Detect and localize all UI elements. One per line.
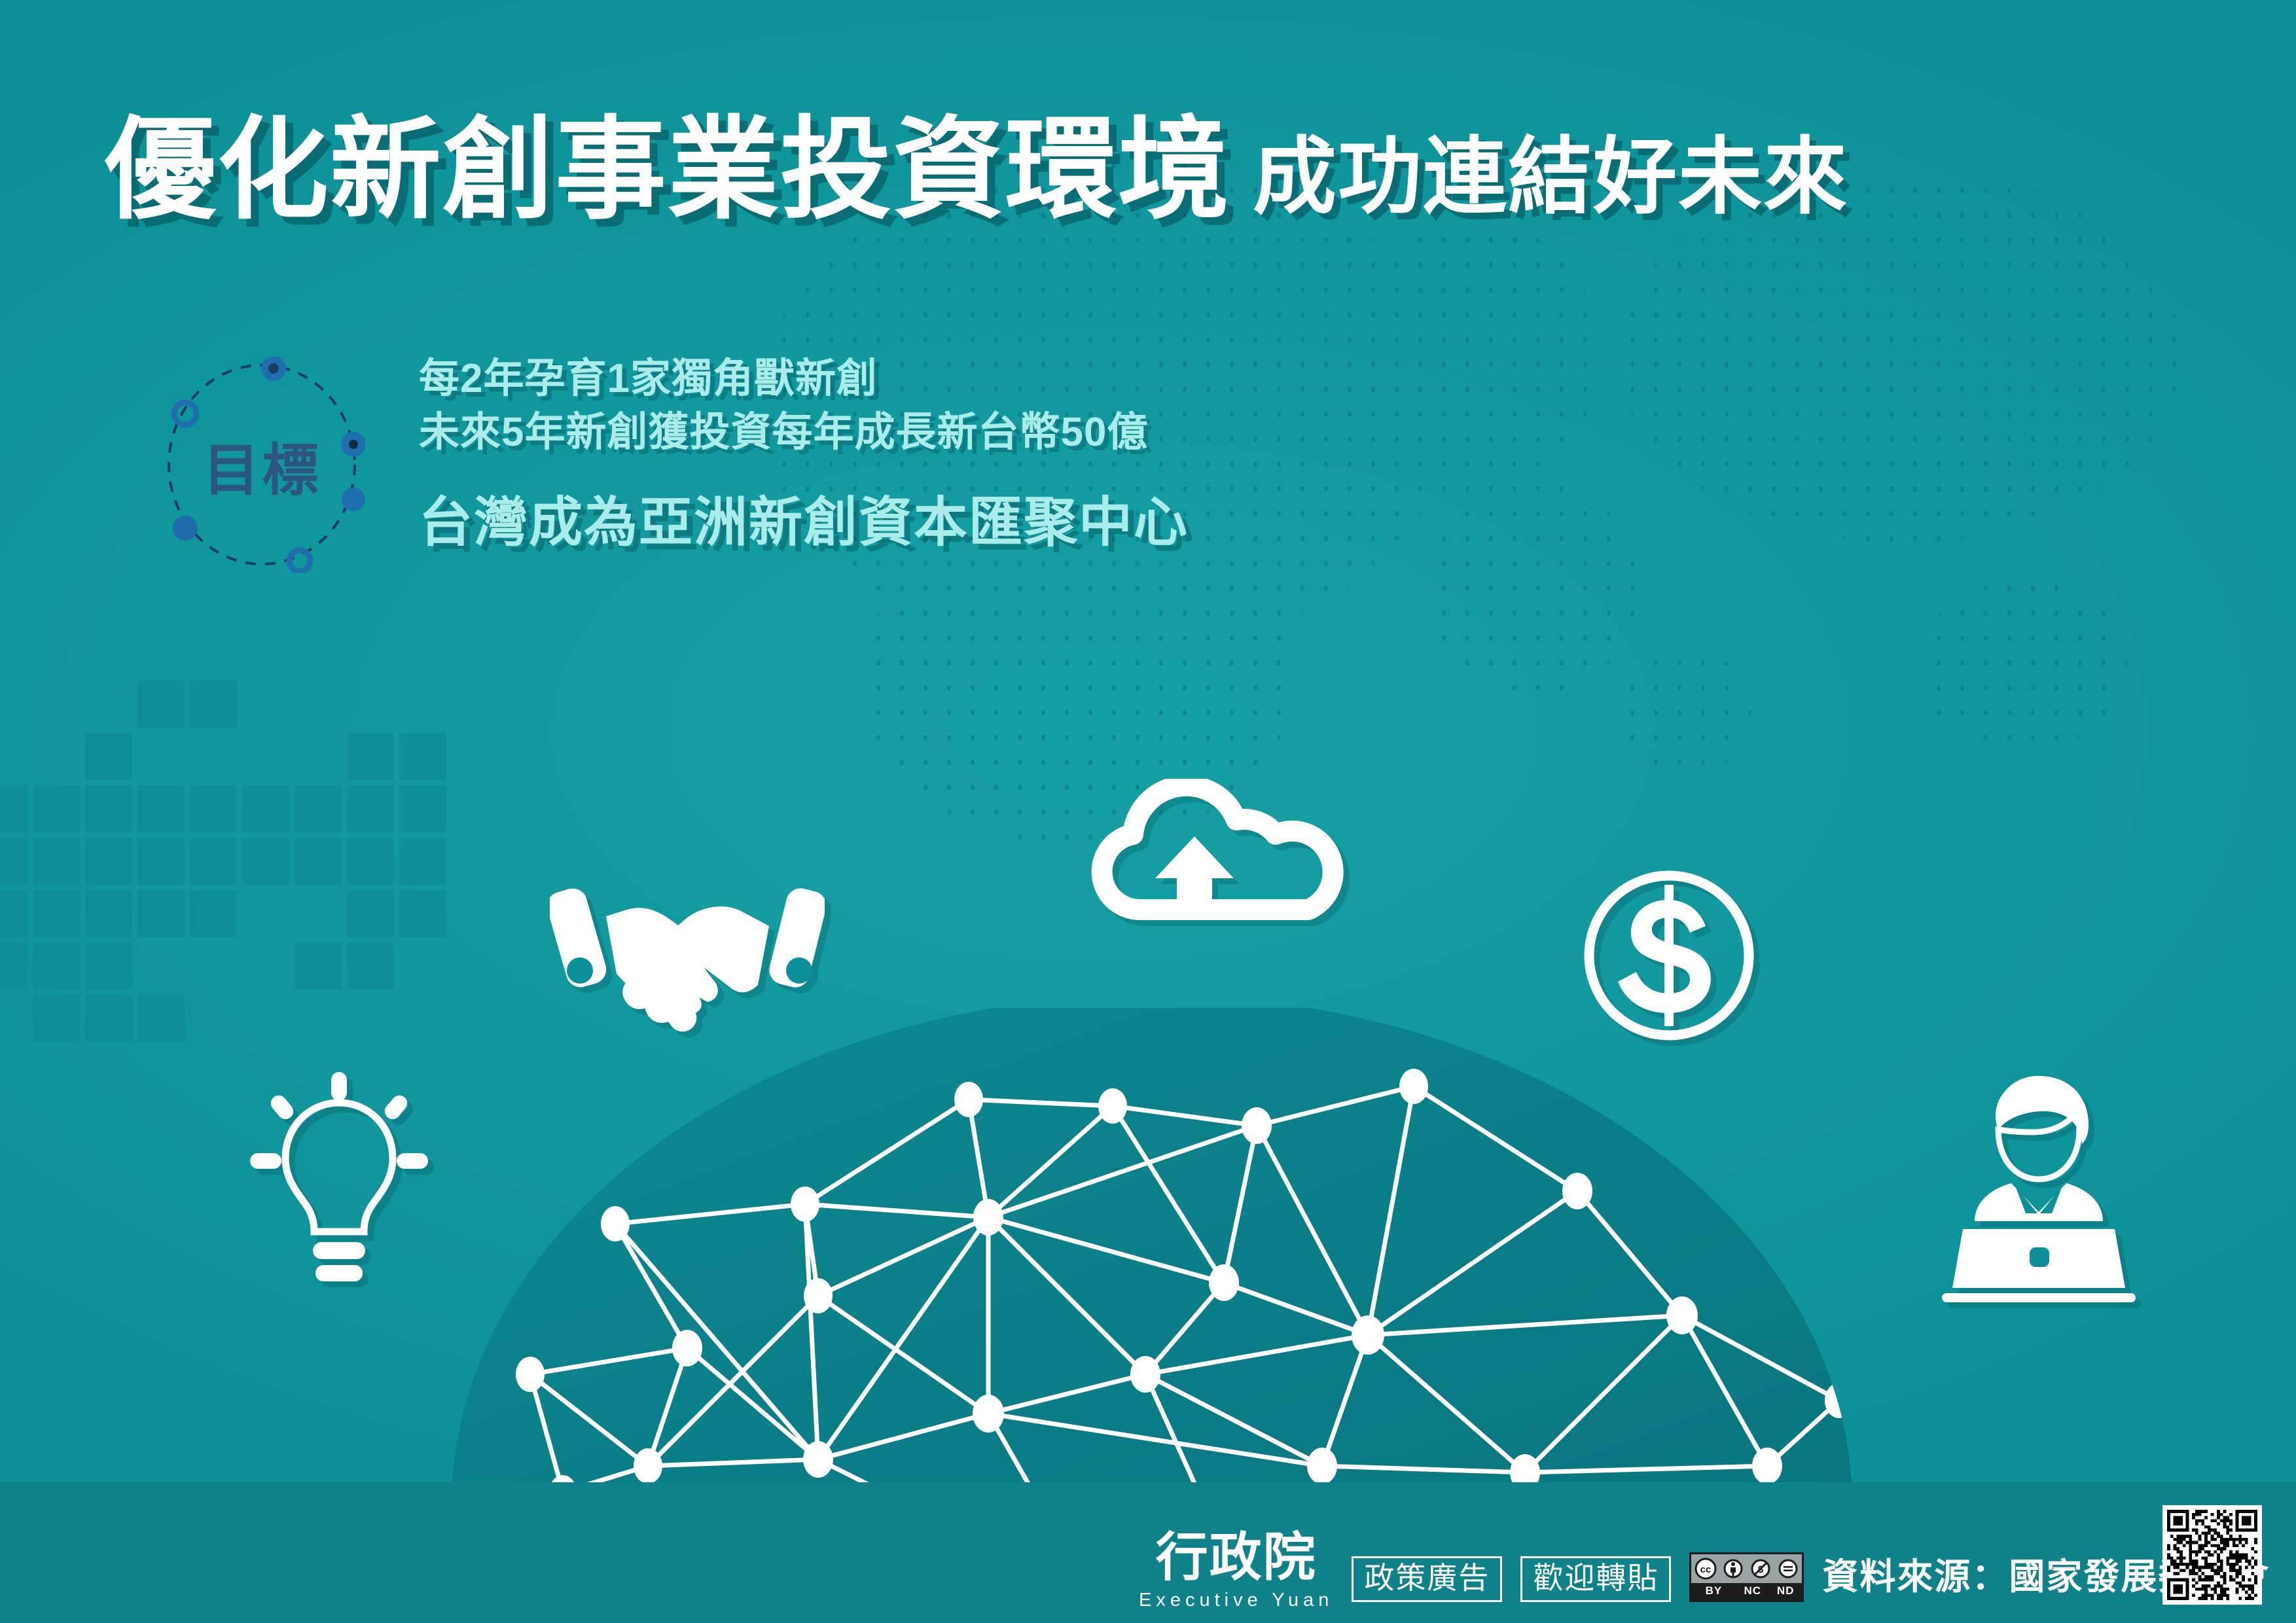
executive-yuan-logo: 行政院 Executive Yuan [1139, 1532, 1333, 1611]
svg-text:cc: cc [1700, 1564, 1711, 1575]
decorative-square [190, 838, 237, 885]
decorative-square [347, 890, 394, 937]
footer-content: 行政院 Executive Yuan 政策廣告 歡迎轉貼 cc $ [1139, 1532, 2270, 1611]
qr-code[interactable] [2162, 1505, 2262, 1605]
poster-canvas: 優化新創事業投資環境 成功連結好未來 目標 每2年孕育1家獨角獸新創 未來5年新… [0, 0, 2296, 1623]
agency-name-en: Executive Yuan [1139, 1590, 1333, 1611]
decorative-square [399, 838, 446, 885]
decorative-square [33, 890, 80, 937]
goal-badge-label: 目標 [159, 357, 365, 573]
cc-term-nc: NC [1736, 1583, 1769, 1600]
decorative-square [347, 785, 394, 832]
decorative-square [347, 733, 394, 780]
decorative-square [0, 838, 27, 885]
goal-line-2: 未來5年新創獲投資每年成長新台幣50億 [419, 406, 1189, 459]
cc-by-icon [1719, 1554, 1747, 1583]
decorative-square [85, 838, 132, 885]
cloud-upload-icon [1044, 779, 1345, 975]
decorative-square [137, 995, 185, 1042]
lightbulb-icon [247, 1067, 431, 1283]
cc-term-nd: ND [1769, 1583, 1802, 1600]
decorative-square [137, 785, 185, 832]
decorative-square [399, 733, 446, 780]
person-laptop-icon [1934, 1067, 2144, 1302]
decorative-square [33, 995, 80, 1042]
decorative-square [295, 838, 342, 885]
decorative-square [295, 942, 342, 990]
footer-bar: 行政院 Executive Yuan 政策廣告 歡迎轉貼 cc $ [0, 1482, 2296, 1623]
decorative-square [295, 785, 342, 832]
decorative-square [190, 785, 237, 832]
poster-title: 優化新創事業投資環境 成功連結好未來 [105, 115, 2199, 226]
goal-badge-circle: 目標 [159, 357, 365, 573]
decorative-square [85, 785, 132, 832]
decorative-square [33, 942, 80, 990]
goal-highlight: 台灣成為亞洲新創資本匯聚中心 [419, 478, 1189, 556]
decorative-square [190, 681, 237, 728]
decorative-square [399, 785, 446, 832]
decorative-square [347, 942, 394, 990]
handshake-icon [550, 877, 825, 1047]
decorative-square [0, 942, 27, 990]
cc-term-by: BY [1691, 1583, 1736, 1600]
goal-text-block: 每2年孕育1家獨角獸新創 未來5年新創獲投資每年成長新台幣50億 台灣成為亞洲新… [419, 352, 1189, 556]
decorative-square [242, 838, 289, 885]
decorative-square [85, 995, 132, 1042]
cc-mark-icon: cc [1691, 1554, 1719, 1583]
decorative-square [190, 890, 237, 937]
network-dome-graphic [452, 1008, 1852, 1505]
cc-nc-icon: $ [1747, 1554, 1774, 1583]
cc-license-badge: cc $ BY NC ND [1689, 1552, 1804, 1602]
decorative-square [33, 838, 80, 885]
decorative-square [137, 890, 185, 937]
goal-line-1: 每2年孕育1家獨角獸新創 [419, 352, 1189, 406]
decorative-square [85, 942, 132, 990]
cc-nd-icon [1774, 1554, 1802, 1583]
agency-name-cn: 行政院 [1156, 1532, 1317, 1584]
tag-repost-welcome: 歡迎轉貼 [1520, 1556, 1671, 1602]
decorative-square [0, 785, 27, 832]
decorative-square [137, 681, 185, 728]
decorative-square [85, 733, 132, 780]
decorative-square [399, 890, 446, 937]
title-main: 優化新創事業投資環境 [105, 115, 1230, 226]
decorative-square [242, 785, 289, 832]
dollar-circle-icon [1577, 864, 1761, 1047]
decorative-square [0, 890, 27, 937]
title-sub: 成功連結好未來 [1253, 135, 1848, 226]
tag-policy-ad: 政策廣告 [1352, 1556, 1502, 1602]
decorative-square [85, 890, 132, 937]
decorative-square [137, 838, 185, 885]
decorative-square [347, 838, 394, 885]
decorative-square [33, 785, 80, 832]
